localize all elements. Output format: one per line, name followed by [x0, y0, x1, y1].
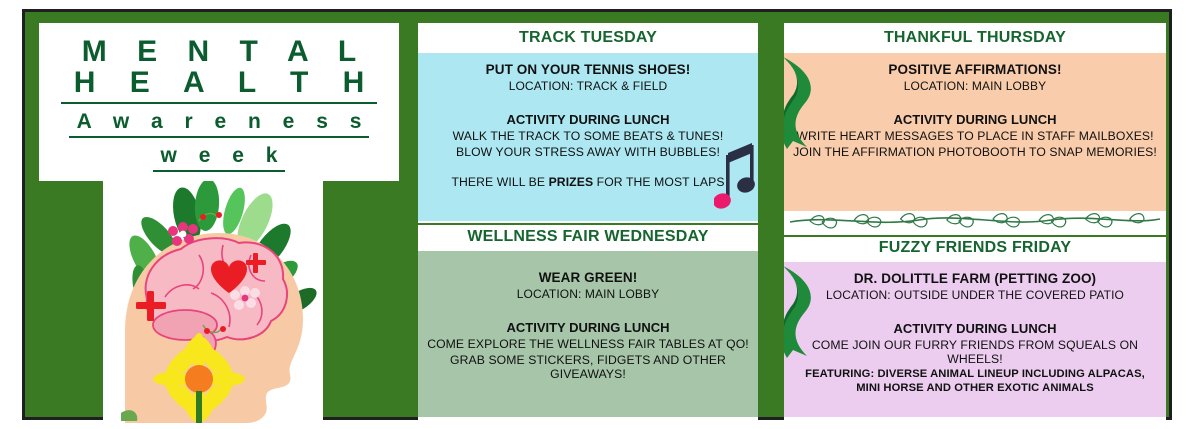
music-note-icon [714, 137, 756, 215]
prize-note: THERE WILL BE PRIZES FOR THE MOST LAPS [426, 175, 750, 189]
vine-divider-icon [418, 221, 758, 223]
activity-line: WRITE HEART MESSAGES TO PLACE IN STAFF M… [792, 129, 1158, 143]
activity-line: COME EXPLORE THE WELLNESS FAIR TABLES AT… [426, 337, 750, 351]
day-body-wellness-fair-wednesday: WEAR GREEN! LOCATION: MAIN LOBBY ACTIVIT… [418, 251, 758, 417]
prize-note-suffix: FOR THE MOST LAPS [593, 175, 724, 189]
awareness-ribbon-icon [784, 264, 823, 358]
title-card: M E N T A L H E A L T H A w a r e n e s … [39, 23, 399, 181]
activity-label: ACTIVITY DURING LUNCH [792, 321, 1158, 336]
day-heading-fuzzy-friends-friday: FUZZY FRIENDS FRIDAY [784, 237, 1166, 262]
title-line-health: H E A L T H [61, 67, 378, 104]
activity-line: JOIN THE AFFIRMATION PHOTOBOOTH TO SNAP … [792, 145, 1158, 159]
activity-line: BLOW YOUR STRESS AWAY WITH BUBBLES! [426, 145, 750, 159]
center-column: TRACK TUESDAY PUT ON YOUR TENNIS SHOES! … [409, 12, 767, 417]
day-title: POSITIVE AFFIRMATIONS! [792, 62, 1158, 77]
day-panel-wellness-fair-wednesday: WELLNESS FAIR WEDNESDAY WEAR GREEN! LOCA… [418, 225, 758, 423]
day-body-thankful-thursday: POSITIVE AFFIRMATIONS! LOCATION: MAIN LO… [784, 53, 1166, 211]
activity-line: GRAB SOME STICKERS, FIDGETS AND OTHER GI… [426, 353, 750, 381]
flyer-poster: M E N T A L H E A L T H A w a r e n e s … [22, 9, 1172, 420]
right-column: THANKFUL THURSDAY POSITIVE AFFIRMATIONS!… [775, 12, 1175, 417]
featuring-line: MINI HORSE AND OTHER EXOTIC ANIMALS [792, 382, 1158, 394]
activity-label: ACTIVITY DURING LUNCH [426, 320, 750, 335]
day-title: PUT ON YOUR TENNIS SHOES! [426, 62, 750, 77]
mental-health-head-illustration [103, 181, 323, 423]
day-panel-track-tuesday: TRACK TUESDAY PUT ON YOUR TENNIS SHOES! … [418, 23, 758, 223]
day-location: LOCATION: MAIN LOBBY [426, 287, 750, 301]
day-heading-track-tuesday: TRACK TUESDAY [418, 23, 758, 53]
title-line-week: w e e k [153, 145, 286, 172]
day-heading-thankful-thursday: THANKFUL THURSDAY [784, 23, 1166, 53]
day-body-fuzzy-friends-friday: DR. DOLITTLE FARM (PETTING ZOO) LOCATION… [784, 262, 1166, 417]
day-heading-wellness-fair-wednesday: WELLNESS FAIR WEDNESDAY [418, 225, 758, 251]
vine-divider-icon [784, 211, 1166, 233]
awareness-ribbon-icon [784, 55, 823, 149]
activity-label: ACTIVITY DURING LUNCH [426, 112, 750, 127]
day-location: LOCATION: OUTSIDE UNDER THE COVERED PATI… [792, 288, 1158, 302]
day-panel-fuzzy-friends-friday: FUZZY FRIENDS FRIDAY DR. DOLITTLE FARM (… [784, 237, 1166, 423]
day-location: LOCATION: MAIN LOBBY [792, 79, 1158, 93]
prize-note-emphasis: PRIZES [549, 175, 594, 189]
left-column: M E N T A L H E A L T H A w a r e n e s … [25, 12, 399, 417]
activity-line: WALK THE TRACK TO SOME BEATS & TUNES! [426, 129, 750, 143]
day-title: WEAR GREEN! [426, 270, 750, 285]
day-location: LOCATION: TRACK & FIELD [426, 79, 750, 93]
day-title: DR. DOLITTLE FARM (PETTING ZOO) [792, 271, 1158, 286]
title-line-awareness: A w a r e n e s s [69, 111, 370, 138]
activity-line: COME JOIN OUR FURRY FRIENDS FROM SQUEALS… [792, 338, 1158, 366]
prize-note-prefix: THERE WILL BE [451, 175, 548, 189]
activity-label: ACTIVITY DURING LUNCH [792, 112, 1158, 127]
title-line-mental: M E N T A L [71, 36, 367, 68]
day-panel-thankful-thursday: THANKFUL THURSDAY POSITIVE AFFIRMATIONS!… [784, 23, 1166, 235]
featuring-line: FEATURING: DIVERSE ANIMAL LINEUP INCLUDI… [792, 368, 1158, 380]
day-body-track-tuesday: PUT ON YOUR TENNIS SHOES! LOCATION: TRAC… [418, 53, 758, 221]
